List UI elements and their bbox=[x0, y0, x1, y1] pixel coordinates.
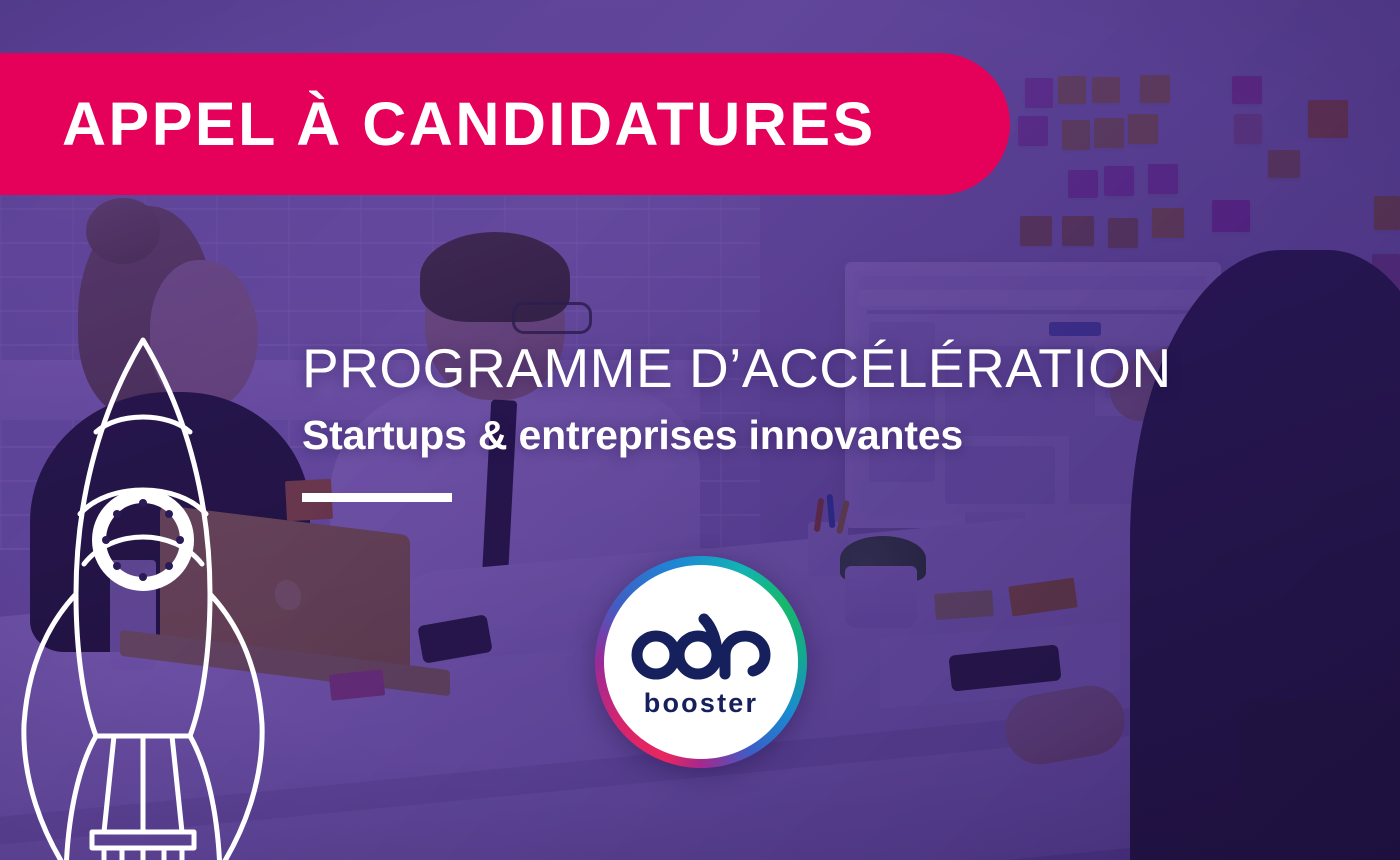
headline-rule bbox=[302, 493, 452, 502]
poster-canvas: APPEL À CANDIDATURES PROGRAMME D’ACCÉLÉR… bbox=[0, 0, 1400, 860]
headline-block: PROGRAMME D’ACCÉLÉRATION Startups & entr… bbox=[302, 340, 1172, 502]
banner-label: APPEL À CANDIDATURES bbox=[62, 94, 876, 155]
program-subtitle: Startups & entreprises innovantes bbox=[302, 414, 1172, 457]
adn-wordmark-icon bbox=[626, 611, 776, 686]
rocket-icon bbox=[18, 332, 288, 860]
logo-inner-circle: booster bbox=[604, 565, 798, 759]
call-for-applications-banner: APPEL À CANDIDATURES bbox=[0, 53, 1010, 195]
adn-booster-logo: booster bbox=[595, 556, 807, 768]
logo-subword: booster bbox=[644, 688, 758, 719]
program-title: PROGRAMME D’ACCÉLÉRATION bbox=[302, 340, 1172, 398]
